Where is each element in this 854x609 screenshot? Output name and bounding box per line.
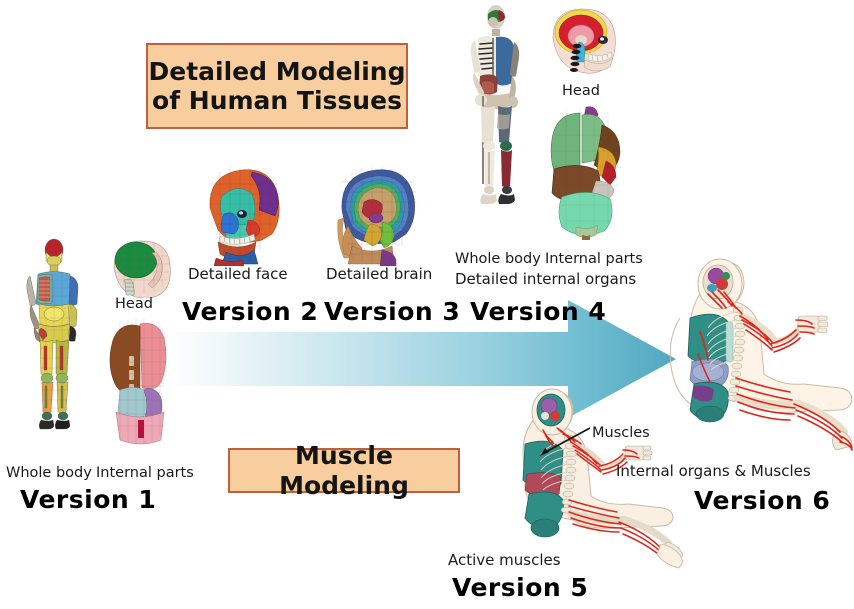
title-line-1: Detailed Modeling — [149, 57, 406, 87]
version4-whole-body-model — [462, 4, 534, 248]
version4-caption: Detailed internal organs — [455, 270, 636, 288]
muscle-modeling-title-box: Muscle Modeling — [228, 448, 460, 493]
version3-detailed-brain-model — [330, 166, 426, 266]
version4-internal-organs-model — [540, 105, 636, 240]
version4-label: Version 4 — [470, 297, 606, 326]
version4-whole-body-label: Whole body — [455, 251, 541, 267]
version5-label: Version 5 — [452, 573, 588, 602]
version3-label: Version 3 — [324, 297, 460, 326]
version4-internal-parts-label: Internal parts — [545, 251, 643, 267]
version1-whole-body-model — [10, 238, 96, 450]
human-body-model-evolution-figure: Head Whole body Internal parts Version 1 — [0, 0, 854, 609]
version5-caption: Active muscles — [448, 551, 561, 569]
version2-label: Version 2 — [182, 297, 318, 326]
version1-head-cross-section — [104, 238, 176, 298]
version1-head-label: Head — [115, 296, 153, 312]
detailed-modeling-title-box: Detailed Modeling of Human Tissues — [146, 43, 408, 129]
version2-caption: Detailed face — [188, 265, 288, 283]
version1-internal-parts-model — [96, 316, 186, 448]
muscle-modeling-title-text: Muscle Modeling — [230, 441, 458, 500]
version1-label: Version 1 — [20, 485, 156, 514]
title-line-2: of Human Tissues — [149, 86, 406, 116]
version3-caption: Detailed brain — [326, 265, 432, 283]
muscles-callout-label: Muscles — [592, 425, 650, 441]
version4-head-cross-section — [545, 6, 623, 78]
version6-caption: Internal organs & Muscles — [616, 462, 811, 480]
version1-internal-parts-label: Internal parts — [96, 465, 194, 481]
detailed-modeling-title-text: Detailed Modeling of Human Tissues — [149, 57, 406, 116]
version2-detailed-face-model — [196, 166, 292, 266]
muscles-callout-line — [540, 424, 600, 458]
version6-label: Version 6 — [694, 486, 830, 515]
version6-organs-and-muscles-model — [650, 258, 854, 462]
version4-head-label: Head — [562, 83, 600, 99]
version1-whole-body-label: Whole body — [6, 465, 92, 481]
